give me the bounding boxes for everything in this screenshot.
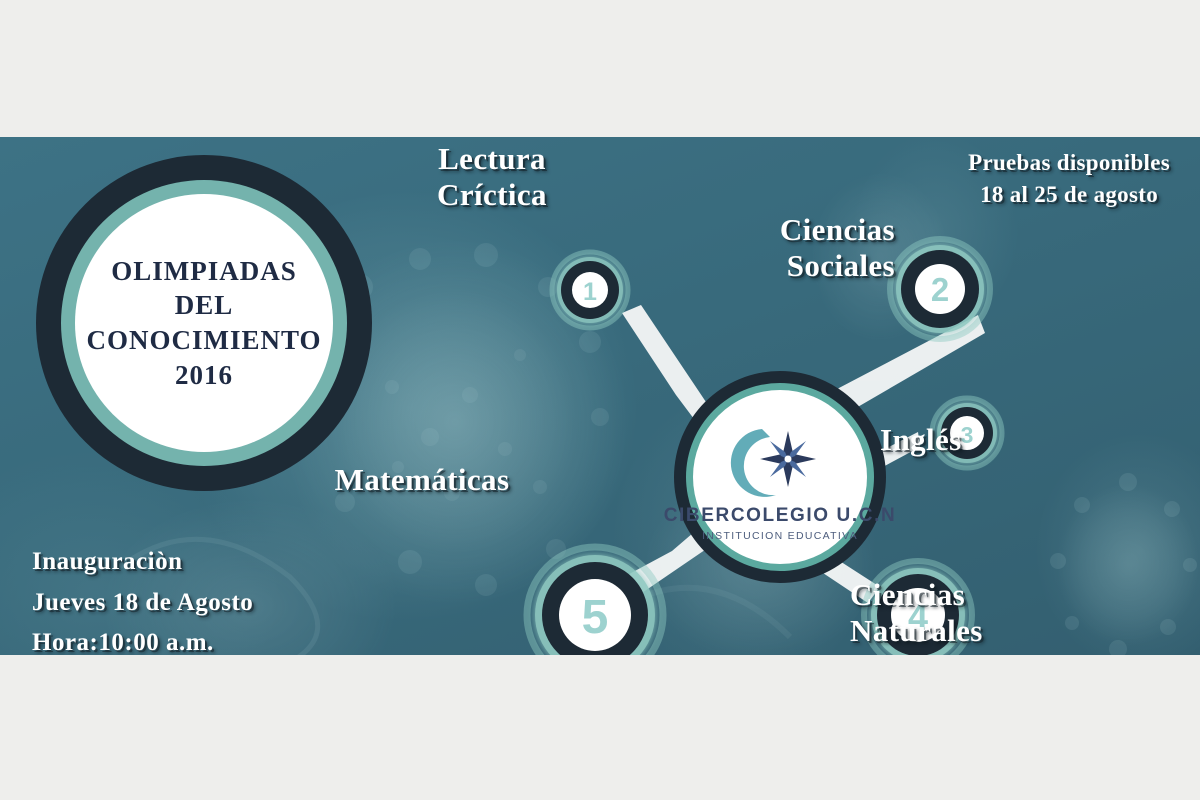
poster-stage: OLIMPIADAS DEL CONOCIMIENTO 2016 Pruebas… [0,0,1200,800]
node-label-ingles: Inglés [880,422,1120,458]
node-1-number: 1 [583,278,597,306]
node-label-lectura-critica: Lectura Críctica [362,141,622,213]
logo-subtitle: INSTITUCION EDUCATIVA [702,530,858,542]
node-1[interactable]: 1 [552,252,628,328]
logo-name: CIBERCOLEGIO U.C.N [664,505,897,526]
node-label-matematicas: Matemáticas [262,462,582,498]
node-label-ciencias-sociales: Ciencias Sociales [620,212,895,284]
node-5-number: 5 [582,591,609,644]
node-5[interactable]: 5 [527,547,663,655]
node-label-ciencias-naturales: Ciencias Naturales [850,577,1150,649]
node-2[interactable]: 2 [890,239,990,339]
node-2-number: 2 [931,271,949,308]
event-banner: OLIMPIADAS DEL CONOCIMIENTO 2016 Pruebas… [0,137,1200,655]
